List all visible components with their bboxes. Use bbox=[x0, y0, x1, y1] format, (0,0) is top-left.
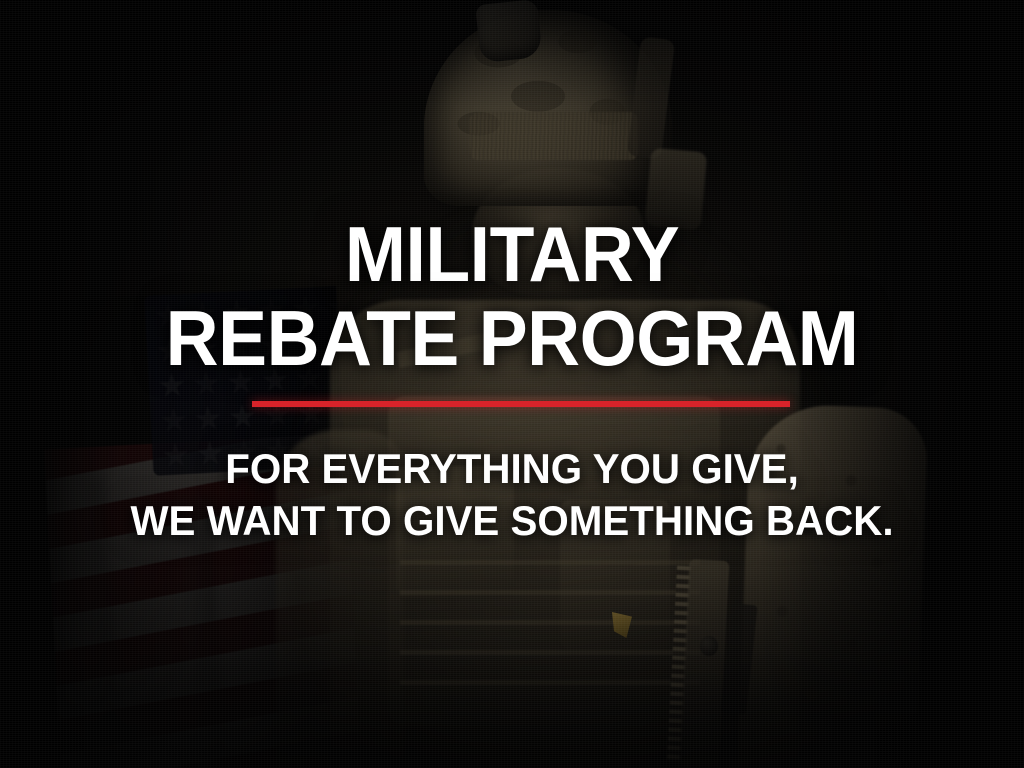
slide-content: MILITARY REBATE PROGRAM FOR EVERYTHING Y… bbox=[0, 0, 1024, 768]
red-divider-rule bbox=[252, 401, 790, 407]
headline-line-2: REBATE PROGRAM bbox=[31, 302, 994, 375]
headline-line-1: MILITARY bbox=[31, 218, 994, 291]
subtitle-line-2: WE WANT TO GIVE SOMETHING BACK. bbox=[20, 500, 1003, 542]
military-rebate-slide: MILITARY REBATE PROGRAM FOR EVERYTHING Y… bbox=[0, 0, 1024, 768]
subtitle-line-1: FOR EVERYTHING YOU GIVE, bbox=[20, 448, 1003, 490]
